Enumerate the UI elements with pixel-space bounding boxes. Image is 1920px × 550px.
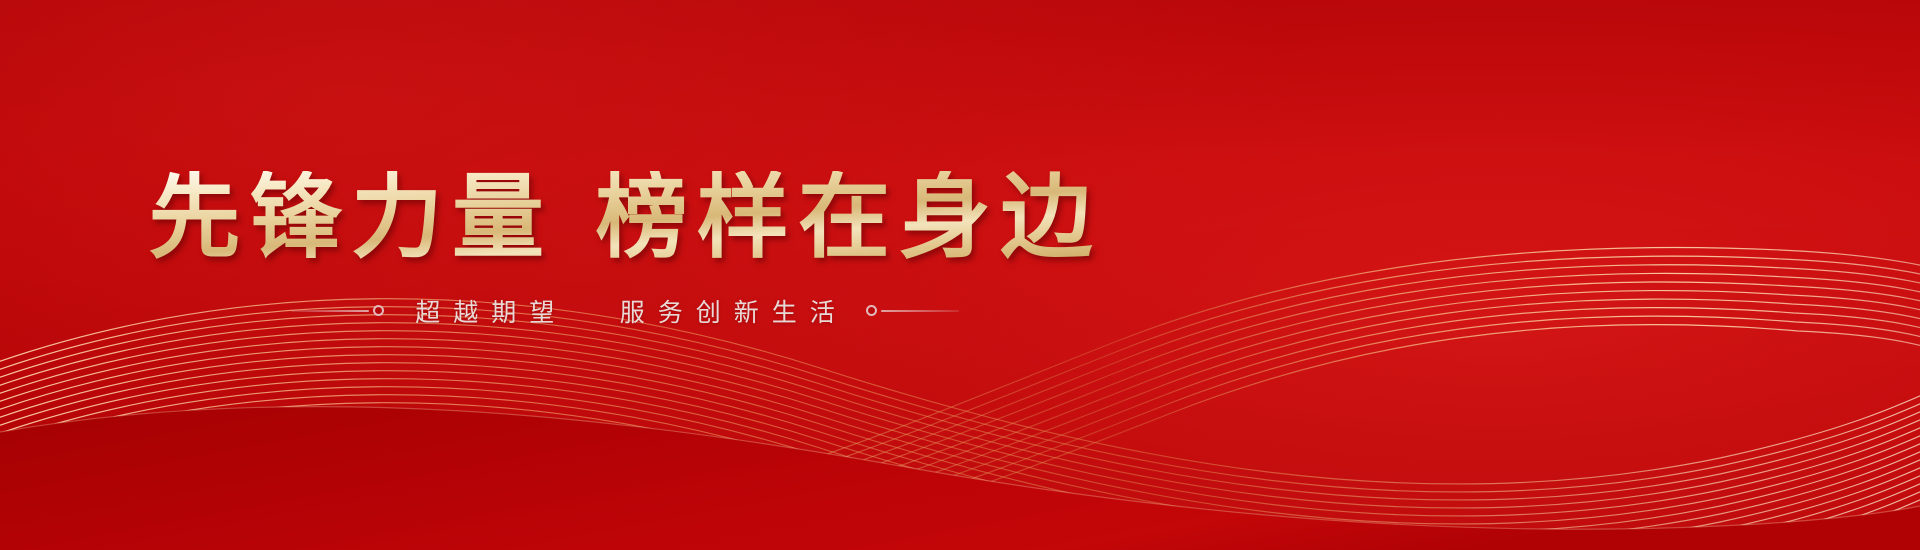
subtitle-part-1: 超越期望 <box>415 299 567 327</box>
subtitle-row: 超越期望 服务创新生活 <box>291 293 958 329</box>
circle-endpoint-left-icon <box>373 305 384 316</box>
rule-left-bar <box>291 310 369 312</box>
banner-text-block: 先锋力量 榜样在身边 超越期望 服务创新生活 <box>0 0 1250 550</box>
subtitle-rule-left <box>291 305 384 316</box>
page-subtitle: 超越期望 服务创新生活 <box>402 293 847 329</box>
circle-endpoint-right-icon <box>866 305 877 316</box>
headline-part-2: 榜样在身边 <box>596 171 1102 267</box>
rule-right-bar <box>881 310 959 312</box>
page-title: 先锋力量 榜样在身边 <box>148 171 1101 267</box>
subtitle-rule-right <box>866 305 959 316</box>
headline-part-1: 先锋力量 <box>148 171 553 267</box>
banner-root: 先锋力量 榜样在身边 超越期望 服务创新生活 <box>0 0 1920 550</box>
subtitle-part-2: 服务创新生活 <box>620 299 848 327</box>
